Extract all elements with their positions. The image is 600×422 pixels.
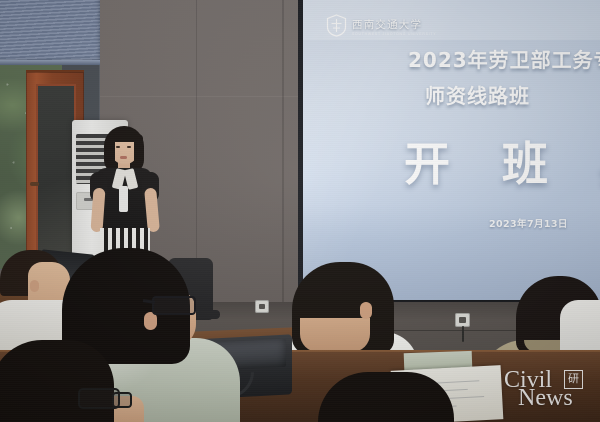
photo-scene: 西南交通大学 SOUTHWEST JIAOTONG UNIVERSITY 202…	[0, 0, 600, 422]
speaker-tie	[119, 186, 128, 212]
audience-head	[0, 340, 114, 422]
wall-outlet-left[interactable]	[255, 300, 269, 313]
university-name-subtext: SOUTHWEST JIAOTONG UNIVERSITY	[352, 32, 436, 36]
speaker-mouth	[120, 156, 127, 159]
speaker-eye-right	[127, 146, 131, 148]
slide-title-line-1: 2023年劳卫部工务专业	[408, 44, 600, 73]
door-handle[interactable]	[30, 182, 39, 186]
slide-headline: 开 班 典	[404, 128, 600, 194]
audience-glasses	[152, 296, 196, 315]
wall-seam	[196, 0, 197, 302]
speaker-hair-right	[134, 134, 143, 168]
university-name-text: 西南交通大学	[352, 20, 422, 31]
window-blinds[interactable]	[0, 0, 100, 64]
audience-neck	[300, 318, 370, 352]
speaker-hair-left	[107, 134, 115, 164]
speaker-eye-left	[116, 146, 120, 148]
audience-ear	[30, 280, 39, 292]
blinds-rail	[0, 60, 100, 65]
audience-ear	[360, 302, 372, 319]
wall-seam	[282, 0, 284, 330]
power-cord	[462, 326, 464, 342]
wall-outlet-right[interactable]	[455, 313, 470, 327]
audience-glasses	[112, 392, 132, 408]
door-glass-panel	[36, 84, 76, 260]
slide-date: 2023年7月13日	[489, 216, 568, 230]
university-seal-icon	[326, 14, 347, 37]
slide-title-line-2: 师资线路班	[425, 80, 530, 109]
